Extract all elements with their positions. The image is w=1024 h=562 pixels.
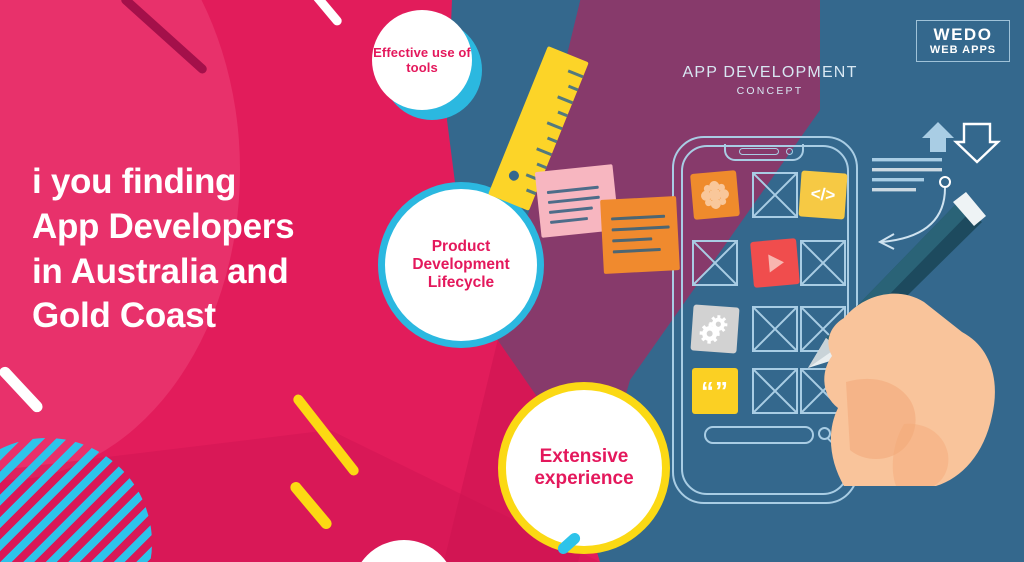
concept-title: APP DEVELOPMENT bbox=[660, 64, 880, 82]
puzzle-icon[interactable] bbox=[690, 170, 740, 220]
phone-camera-icon bbox=[786, 148, 793, 155]
marketing-banner: i you finding App Developers in Australi… bbox=[0, 0, 1024, 562]
gears-icon[interactable] bbox=[690, 304, 739, 353]
headline-line-2: App Developers bbox=[32, 205, 432, 250]
headline-line-4: Gold Coast bbox=[32, 294, 432, 339]
placeholder-icon[interactable] bbox=[692, 240, 738, 286]
concept-subtitle: CONCEPT bbox=[660, 85, 880, 97]
badge-effective-use-of-tools[interactable]: Effective use of tools bbox=[372, 10, 472, 110]
sticky-note-orange bbox=[600, 196, 680, 274]
logo-line-1: WEDO bbox=[934, 26, 993, 43]
badge-extensive-experience[interactable]: Extensive experience bbox=[498, 382, 670, 554]
page-title: i you finding App Developers in Australi… bbox=[32, 160, 432, 339]
concept-title-block: APP DEVELOPMENT CONCEPT bbox=[660, 64, 880, 97]
arrow-up-icon bbox=[922, 122, 954, 152]
headline-line-3: in Australia and bbox=[32, 250, 432, 295]
logo-line-2: WEB APPS bbox=[930, 45, 996, 56]
phone-speaker-icon bbox=[739, 148, 779, 155]
headline-line-1: i you finding bbox=[32, 160, 432, 205]
hand-holding-stylus bbox=[786, 186, 1024, 486]
brand-logo[interactable]: WEDO WEB APPS bbox=[916, 20, 1010, 62]
arrow-down-icon bbox=[956, 124, 998, 162]
quote-icon[interactable]: “” bbox=[692, 368, 738, 414]
